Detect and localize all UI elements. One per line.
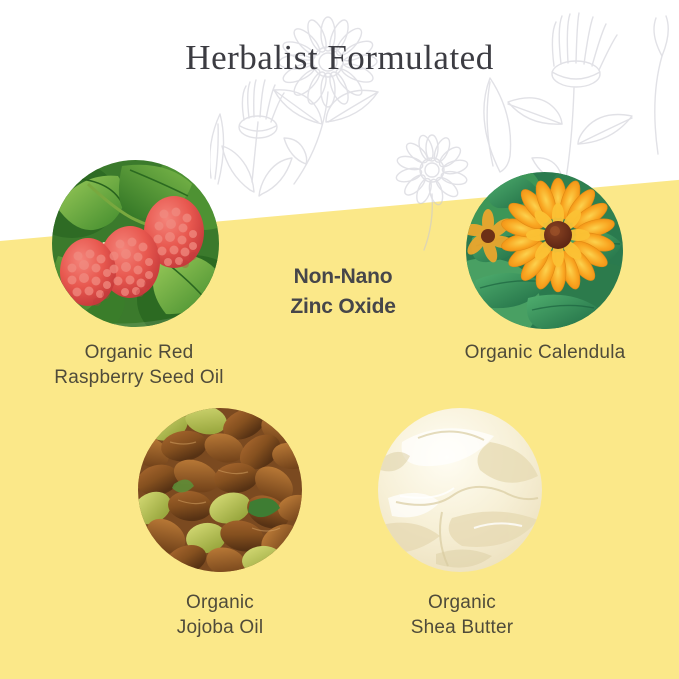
ingredient-label-shea-line-1: Organic [370,590,554,615]
non-nano-zinc-oxide-callout: Non-Nano Zinc Oxide [253,262,433,322]
ingredient-label-shea-butter: Organic Shea Butter [370,590,554,640]
product-ingredient-infographic: Herbalist Formulated [0,0,679,679]
ingredient-label-calendula: Organic Calendula [420,340,670,365]
ingredient-label-jojoba-line-2: Jojoba Oil [128,615,312,640]
callout-line-2: Zinc Oxide [253,292,433,322]
ingredient-label-jojoba-line-1: Organic [128,590,312,615]
ingredient-label-jojoba: Organic Jojoba Oil [128,590,312,640]
page-title: Herbalist Formulated [0,38,679,78]
ingredient-label-calendula-line-1: Organic Calendula [420,340,670,365]
ingredient-image-jojoba [138,408,302,572]
ingredient-image-calendula [466,172,623,329]
ingredient-label-raspberry-line-1: Organic Red [0,340,278,365]
ingredient-image-shea-butter [378,408,542,572]
callout-line-1: Non-Nano [253,262,433,292]
ingredient-label-raspberry-line-2: Raspberry Seed Oil [0,365,278,390]
ingredient-image-raspberry [52,160,219,327]
ingredient-label-raspberry: Organic Red Raspberry Seed Oil [0,340,278,390]
ingredient-label-shea-line-2: Shea Butter [370,615,554,640]
